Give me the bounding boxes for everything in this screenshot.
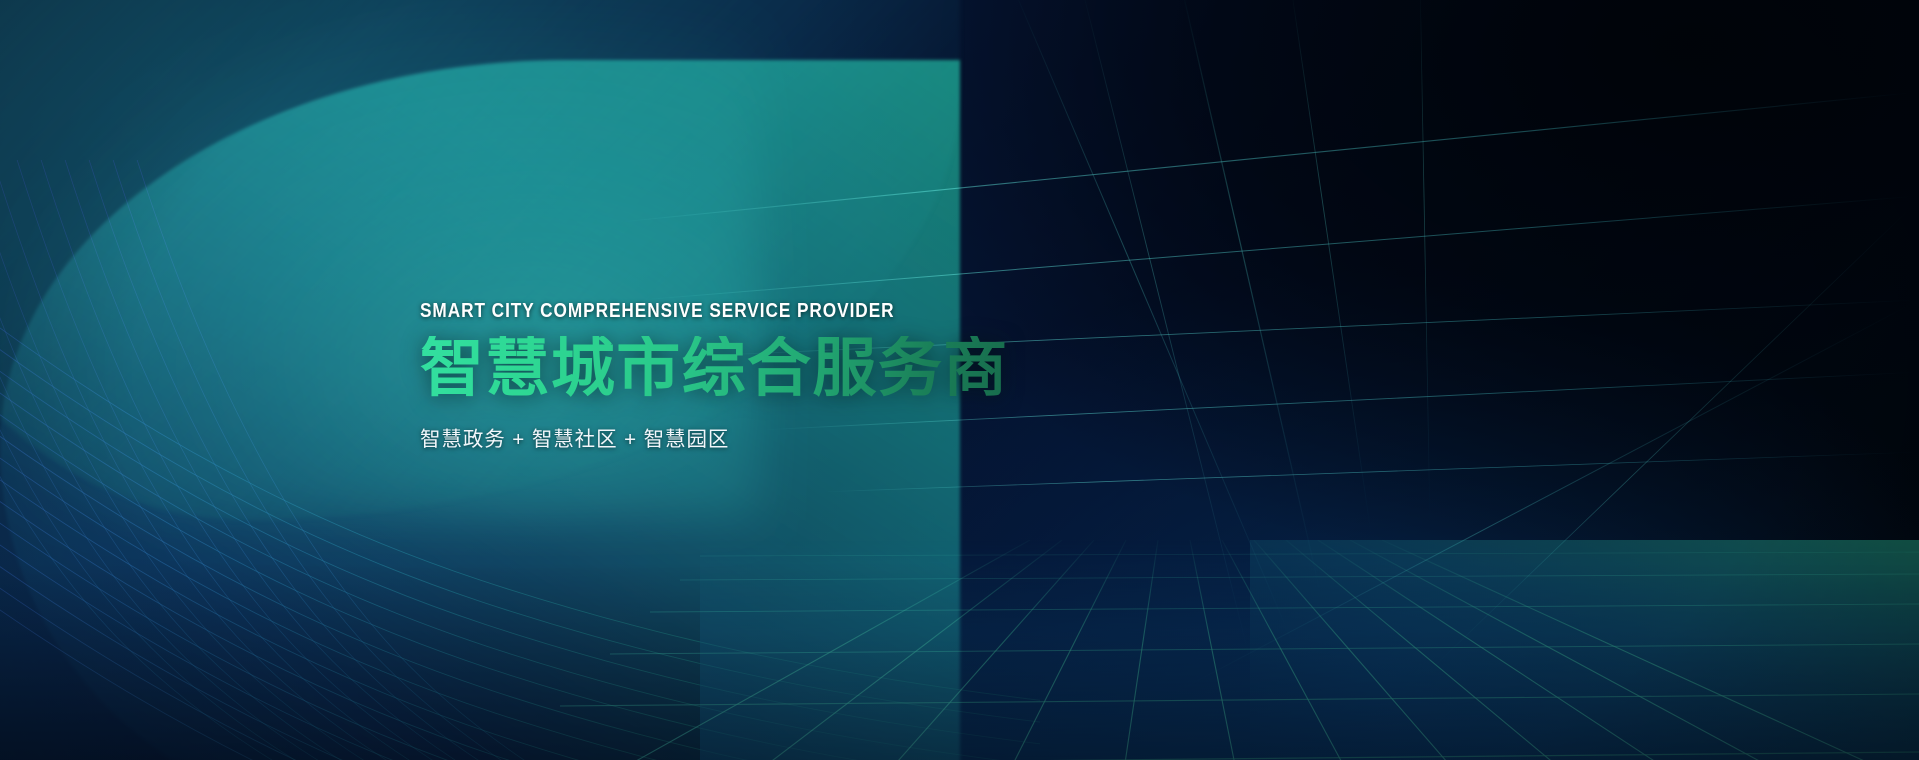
skyline-svg <box>0 0 1099 560</box>
hero-tagline: 智慧政务 + 智慧社区 + 智慧园区 <box>420 422 1009 452</box>
ground-grid <box>0 540 1919 760</box>
city-skyline <box>0 0 1099 560</box>
hero-banner: SMART CITY COMPREHENSIVE SERVICE PROVIDE… <box>0 0 1919 760</box>
hero-eyebrow: SMART CITY COMPREHENSIVE SERVICE PROVIDE… <box>420 300 914 323</box>
hero-headline: 智慧城市综合服务商 <box>420 336 1009 400</box>
hero-copy: SMART CITY COMPREHENSIVE SERVICE PROVIDE… <box>420 300 1009 452</box>
